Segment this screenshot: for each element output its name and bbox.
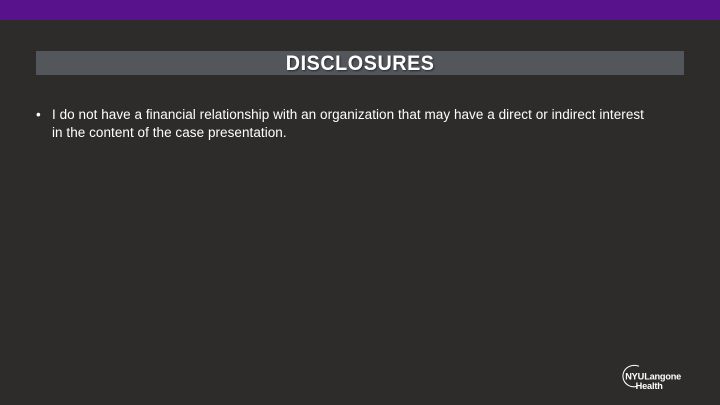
bullet-marker-icon: • bbox=[34, 106, 52, 124]
page-title: DISCLOSURES bbox=[286, 53, 435, 74]
nyu-langone-health-logo: NYU Langone Health bbox=[620, 363, 694, 393]
body-content: • I do not have a financial relationship… bbox=[34, 106, 664, 142]
list-item: • I do not have a financial relationship… bbox=[34, 106, 664, 142]
bullet-text: I do not have a financial relationship w… bbox=[52, 106, 644, 142]
logo-nyu-text: NYU bbox=[625, 371, 644, 381]
logo-health-text: Health bbox=[636, 381, 664, 391]
logo-langone-text: Langone bbox=[644, 371, 681, 381]
slide: DISCLOSURES • I do not have a financial … bbox=[0, 0, 720, 405]
top-purple-band bbox=[0, 0, 720, 20]
title-bar: DISCLOSURES bbox=[36, 51, 684, 75]
